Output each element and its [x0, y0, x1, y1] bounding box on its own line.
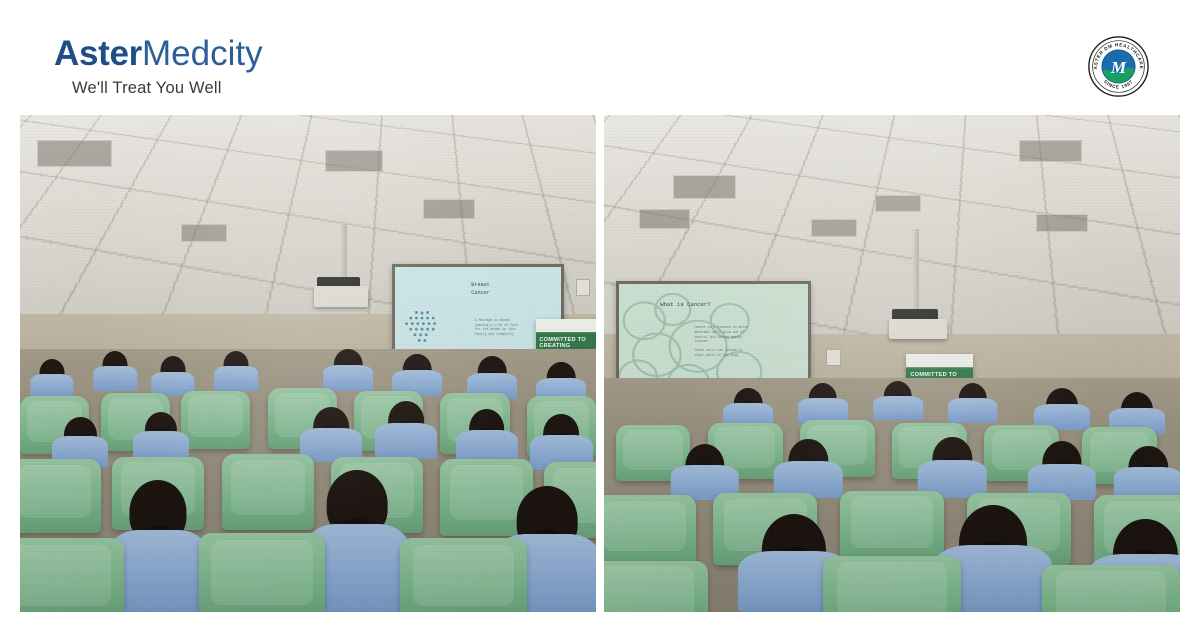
ceiling-vent — [423, 199, 475, 219]
audience-person — [135, 412, 187, 462]
standee-header-strip — [536, 319, 596, 332]
audience-person — [377, 401, 435, 459]
ceiling-vent — [673, 175, 736, 200]
chair — [199, 533, 326, 612]
chair — [222, 454, 314, 530]
chair — [400, 538, 527, 612]
page-root: AsterMedcity We'll Treat You Well M — [0, 0, 1200, 644]
svg-text:M: M — [1110, 58, 1127, 77]
audience-person — [1117, 446, 1180, 502]
audience-person — [673, 444, 736, 500]
audience-person — [725, 388, 771, 428]
chair — [823, 556, 961, 612]
ceiling-vent — [1019, 140, 1082, 162]
ceiling-vent — [811, 219, 857, 237]
audience-person — [216, 351, 256, 391]
audience-person — [777, 439, 840, 497]
projector-pole — [340, 224, 347, 279]
brand-tagline: We'll Treat You Well — [72, 79, 263, 98]
audience-person — [1036, 388, 1088, 430]
audience-person — [921, 437, 984, 498]
brand-name-bold: Aster — [54, 34, 142, 73]
slide-title-line2: Cancer — [471, 290, 490, 296]
chair — [840, 491, 944, 563]
photo-gallery: Breast Cancer A Message to Women Leading… — [20, 115, 1180, 612]
audience-area — [604, 378, 1180, 612]
ceiling-vent — [325, 150, 383, 172]
chair — [181, 391, 250, 449]
audience-person — [112, 480, 204, 612]
ceiling-vent — [639, 209, 691, 229]
audience-person — [1030, 441, 1093, 499]
audience-person — [32, 359, 72, 399]
standee-header-strip — [906, 354, 972, 368]
chair — [604, 495, 696, 565]
audience-person — [302, 407, 360, 462]
chair — [20, 538, 124, 612]
projector-body — [314, 286, 369, 307]
audience-person — [394, 354, 440, 396]
photo-left: Breast Cancer A Message to Women Leading… — [20, 115, 596, 612]
audience-person — [325, 349, 371, 391]
slide-title-line1: What is Cancer? — [660, 301, 710, 308]
audience-person — [950, 383, 996, 423]
ceiling-vent — [875, 195, 921, 213]
chair — [604, 561, 708, 612]
brand-name-light: Medcity — [142, 34, 263, 73]
page-header: AsterMedcity We'll Treat You Well M — [0, 0, 1200, 113]
photo-right: What is Cancer? Cancer is a disease in w… — [604, 115, 1180, 612]
projector-pole — [912, 229, 919, 313]
ceiling-vent — [1036, 214, 1088, 232]
audience-person — [152, 356, 192, 396]
brand-wordmark: AsterMedcity — [54, 34, 263, 74]
ceiling-vent — [181, 224, 227, 242]
audience-person — [469, 356, 515, 398]
chair — [1042, 565, 1180, 612]
slide-body: Cancer is a disease in which abnormal ce… — [694, 325, 793, 357]
audience-person — [458, 409, 516, 464]
brand-logo[interactable]: AsterMedcity We'll Treat You Well — [54, 34, 263, 98]
audience-person — [875, 381, 921, 421]
aster-dm-healthcare-seal-icon: M ASTER DM HEALTHCARE SINCE 1987 — [1087, 35, 1150, 98]
audience-person — [800, 383, 846, 423]
projector-body — [889, 319, 947, 339]
audience-person — [95, 351, 135, 391]
exit-sign-icon — [576, 279, 590, 296]
exit-sign-icon — [826, 349, 841, 367]
ceiling-vent — [37, 140, 112, 167]
chair — [20, 459, 101, 533]
audience-area — [20, 349, 596, 612]
slide-title-line1: Breast — [471, 282, 490, 288]
